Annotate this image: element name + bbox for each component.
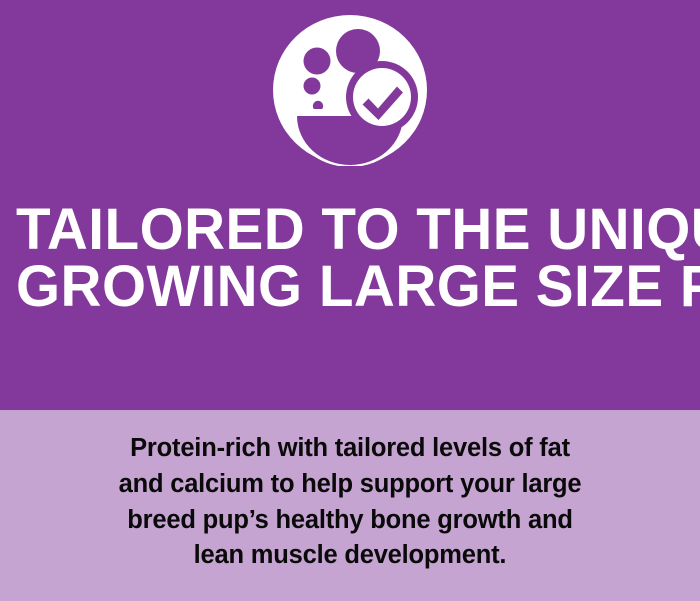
description-line-2: and calcium to help support your large: [119, 467, 582, 503]
promo-card: TAILORED TO THE UNIQUE NEEDS OF GROWING …: [0, 0, 700, 601]
headline-line-2: GROWING LARGE SIZE PUPPIES: [16, 259, 684, 316]
description-line-1: Protein-rich with tailored levels of fat: [119, 431, 582, 467]
description-text: Protein-rich with tailored levels of fat…: [119, 431, 582, 574]
headline: TAILORED TO THE UNIQUE NEEDS OF GROWING …: [8, 202, 692, 316]
description-panel: Protein-rich with tailored levels of fat…: [0, 410, 700, 601]
hero-panel: TAILORED TO THE UNIQUE NEEDS OF GROWING …: [0, 0, 700, 410]
headline-line-1: TAILORED TO THE UNIQUE NEEDS OF: [16, 202, 684, 259]
description-line-4: lean muscle development.: [119, 538, 582, 574]
description-line-3: breed pup’s healthy bone growth and: [119, 503, 582, 539]
bowl-with-check-badge-icon: [272, 14, 428, 166]
